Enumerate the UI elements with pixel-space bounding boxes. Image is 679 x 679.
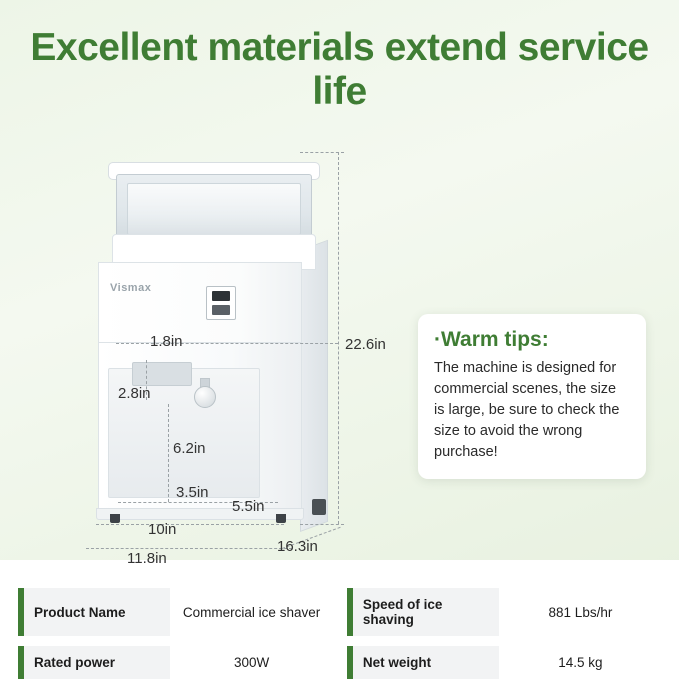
switch-toggle-lower — [212, 305, 230, 315]
spec-table: Product Name Commercial ice shaver Speed… — [18, 588, 662, 679]
dimension-label-1-8in: 1.8in — [150, 333, 183, 350]
machine-side-panel — [300, 240, 328, 532]
guide-line-base-width — [86, 548, 292, 549]
machine-foot-right — [276, 514, 286, 523]
spec-value: 300W — [170, 646, 333, 679]
spec-cell-speed: Speed of ice shaving 881 Lbs/hr — [347, 588, 662, 636]
guide-line-height-right — [338, 152, 339, 524]
ice-shaver-illustration: Vismax — [88, 150, 338, 540]
guide-line-cavity-height — [168, 404, 169, 502]
dimension-label-11-8in: 11.8in — [127, 550, 167, 567]
warm-tips-body: The machine is designed for commercial s… — [434, 358, 630, 463]
product-infographic: Excellent materials extend service life … — [0, 0, 679, 679]
machine-base — [96, 508, 304, 520]
machine-discharge-chute — [132, 362, 192, 386]
spec-key: Rated power — [18, 646, 170, 679]
spec-key: Speed of ice shaving — [347, 588, 499, 636]
spec-key: Net weight — [347, 646, 499, 679]
guide-line-bottom-cap — [300, 524, 344, 525]
guide-line-top-cap — [300, 152, 344, 153]
spec-value: 881 Lbs/hr — [499, 588, 662, 636]
dimension-label-16-3in: 16.3in — [277, 538, 318, 555]
spec-value: Commercial ice shaver — [170, 588, 333, 636]
column-spacer — [333, 588, 347, 636]
warm-tips-title: ·Warm tips: — [434, 328, 630, 352]
table-row: Rated power 300W Net weight 14.5 kg — [18, 646, 662, 679]
machine-foot-left — [110, 514, 120, 523]
spec-value: 14.5 kg — [499, 646, 662, 679]
dimension-label-10in: 10in — [148, 521, 176, 538]
warm-tips-card: ·Warm tips: The machine is designed for … — [418, 314, 646, 479]
guide-line-base-inner — [96, 524, 284, 525]
spec-key: Product Name — [18, 588, 170, 636]
machine-hopper — [116, 174, 312, 242]
dimension-label-6-2in: 6.2in — [173, 440, 206, 457]
spec-cell-rated-power: Rated power 300W — [18, 646, 333, 679]
column-spacer — [333, 646, 347, 679]
spec-cell-product-name: Product Name Commercial ice shaver — [18, 588, 333, 636]
machine-adjust-knob[interactable] — [194, 386, 216, 408]
power-switch[interactable] — [206, 286, 236, 320]
dimension-label-22-6in: 22.6in — [345, 336, 386, 353]
spec-cell-net-weight: Net weight 14.5 kg — [347, 646, 662, 679]
dimension-label-3-5in: 3.5in — [176, 484, 209, 501]
dimension-label-5-5in: 5.5in — [232, 498, 265, 515]
brand-logo: Vismax — [110, 282, 151, 294]
machine-control-panel — [98, 262, 302, 344]
switch-toggle-upper — [212, 291, 230, 301]
page-title: Excellent materials extend service life — [0, 26, 679, 114]
table-row: Product Name Commercial ice shaver Speed… — [18, 588, 662, 636]
machine-power-plug — [312, 499, 326, 515]
dimension-label-2-8in: 2.8in — [118, 385, 151, 402]
